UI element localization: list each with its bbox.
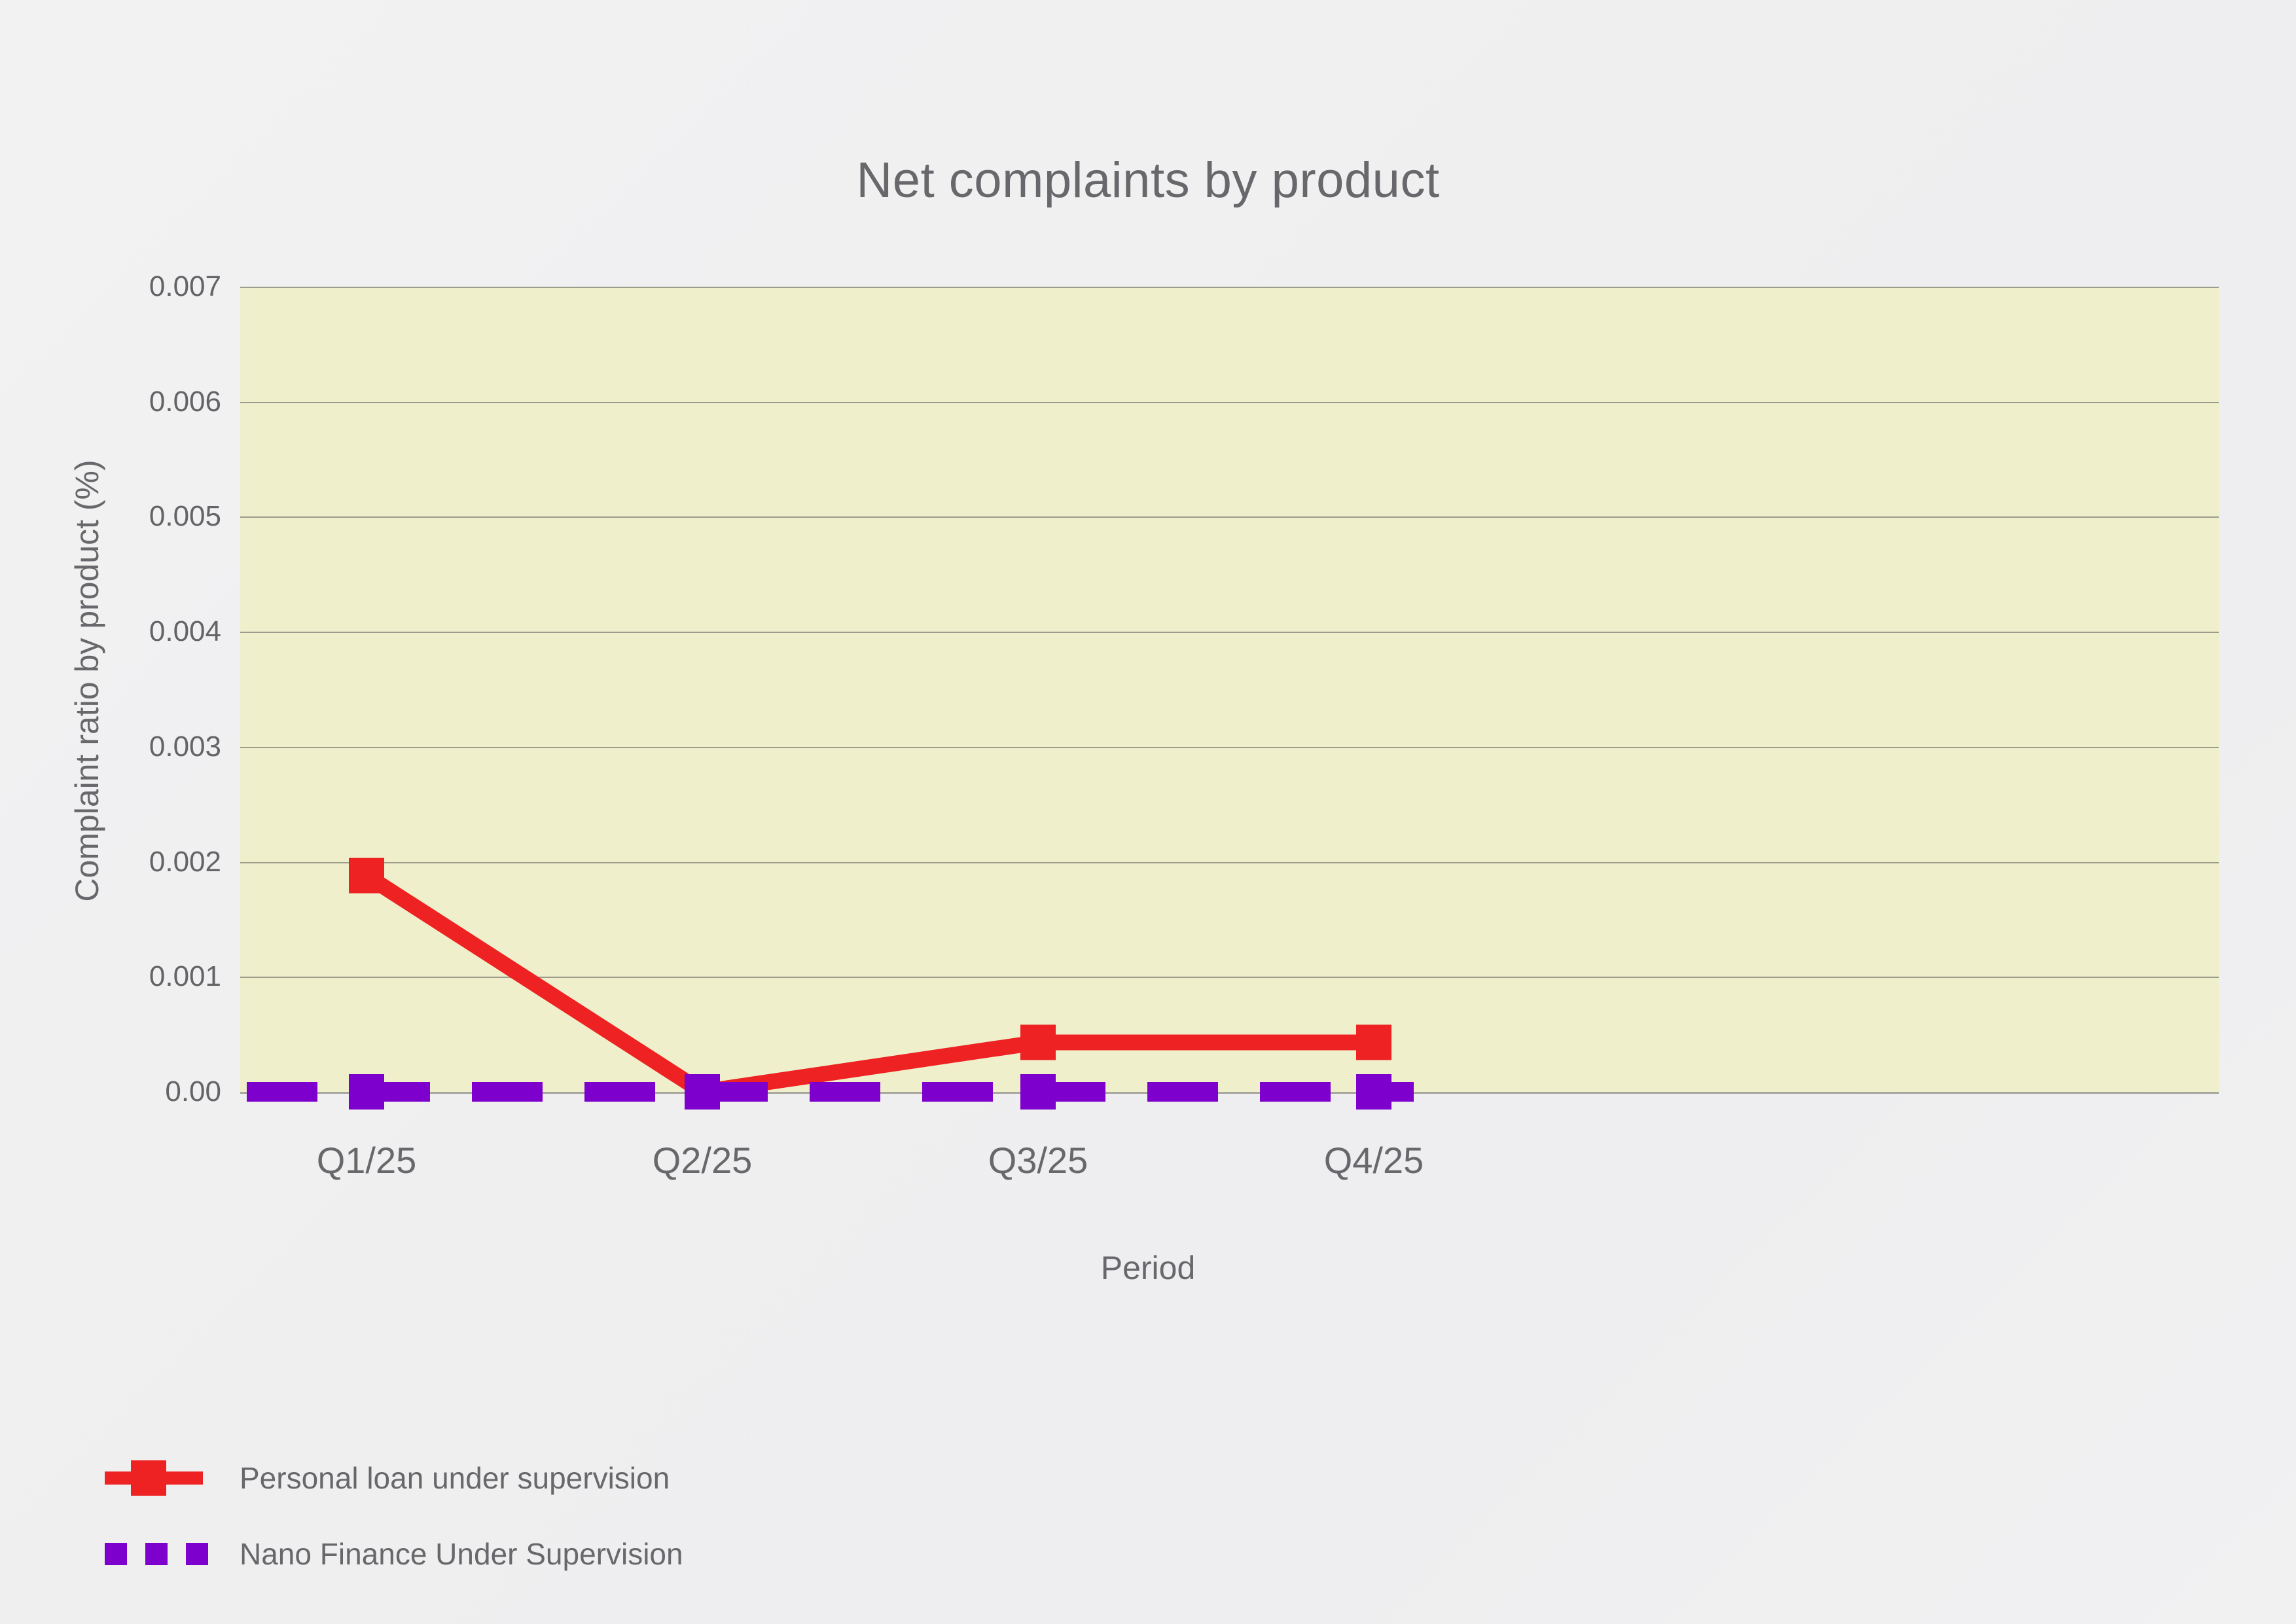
gridline xyxy=(240,1092,2219,1094)
gridline xyxy=(240,632,2219,633)
legend-dash xyxy=(145,1543,168,1565)
plot-area xyxy=(240,287,2219,1092)
y-axis-title: Complaint ratio by product (%) xyxy=(68,460,106,901)
legend-key-swatch xyxy=(98,1455,229,1501)
legend-item[interactable]: Personal loan under supervision xyxy=(98,1440,683,1516)
gridline xyxy=(240,516,2219,518)
legend-dash xyxy=(186,1543,208,1565)
x-tick-label: Q2/25 xyxy=(653,1139,753,1182)
y-tick-label: 0.002 xyxy=(25,846,221,878)
legend-item[interactable]: Nano Finance Under Supervision xyxy=(98,1516,683,1592)
chart-container: Net complaints by product 0.000.0010.002… xyxy=(0,0,2296,1624)
y-tick-label: 0.006 xyxy=(25,386,221,418)
x-tick-label: Q4/25 xyxy=(1324,1139,1424,1182)
y-tick-label: 0.00 xyxy=(25,1075,221,1108)
x-axis-title: Period xyxy=(0,1249,2296,1287)
y-tick-label: 0.005 xyxy=(25,500,221,533)
gridline xyxy=(240,402,2219,403)
legend-dash xyxy=(105,1543,127,1565)
legend-label: Nano Finance Under Supervision xyxy=(240,1536,683,1572)
gridline xyxy=(240,287,2219,288)
y-tick-label: 0.001 xyxy=(25,960,221,993)
x-tick-label: Q1/25 xyxy=(317,1139,417,1182)
chart-title: Net complaints by product xyxy=(0,152,2296,209)
y-tick-label: 0.007 xyxy=(25,270,221,303)
gridline xyxy=(240,862,2219,863)
legend-key-swatch xyxy=(98,1531,229,1577)
y-tick-label: 0.003 xyxy=(25,731,221,763)
legend-marker xyxy=(131,1460,166,1496)
gridline xyxy=(240,977,2219,978)
x-tick-label: Q3/25 xyxy=(988,1139,1088,1182)
legend-label: Personal loan under supervision xyxy=(240,1460,670,1496)
chart-legend: Personal loan under supervisionNano Fina… xyxy=(98,1440,683,1592)
y-tick-label: 0.004 xyxy=(25,615,221,648)
gridline xyxy=(240,747,2219,748)
